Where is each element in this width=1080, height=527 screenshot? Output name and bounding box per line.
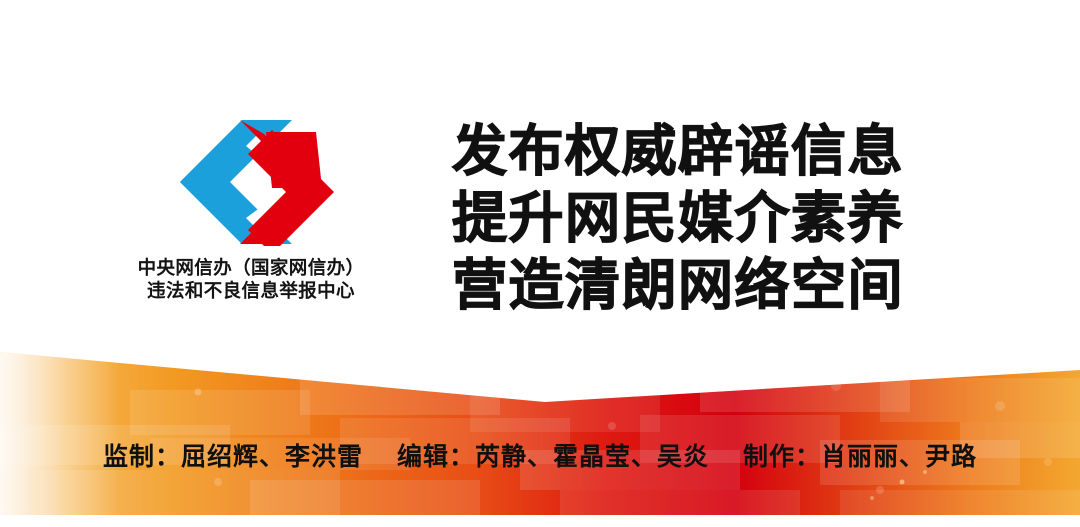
editor-label: 编辑： xyxy=(397,441,475,475)
logo-caption-line-2: 违法和不良信息举报中心 xyxy=(96,279,406,302)
logo-block: 中央网信办（国家网信办） 违法和不良信息举报中心 xyxy=(96,118,406,318)
producer-names: 屈绍辉、李洪雷 xyxy=(181,441,363,475)
designer-label: 制作： xyxy=(743,441,821,475)
poster-canvas: 中央网信办（国家网信办） 违法和不良信息举报中心 发布权威辟谣信息 提升网民媒介… xyxy=(0,0,1080,527)
headline-line-2: 提升网民媒介素养 xyxy=(452,185,952,252)
designer-names: 肖丽丽、尹路 xyxy=(821,441,977,475)
producer-label: 监制： xyxy=(103,441,181,475)
headline-line-1: 发布权威辟谣信息 xyxy=(452,118,952,185)
headline-line-3: 营造清朗网络空间 xyxy=(452,252,952,319)
editor-names: 芮静、霍晶莹、吴炎 xyxy=(475,441,709,475)
upper-white-area: 中央网信办（国家网信办） 违法和不良信息举报中心 发布权威辟谣信息 提升网民媒介… xyxy=(0,0,1080,352)
headline: 发布权威辟谣信息 提升网民媒介素养 营造清朗网络空间 xyxy=(452,118,952,319)
cac-logo-icon xyxy=(96,118,406,246)
logo-caption-line-1: 中央网信办（国家网信办） xyxy=(96,256,406,279)
decorative-band xyxy=(0,330,1080,527)
credits-line: 监制：屈绍辉、李洪雷编辑：芮静、霍晶莹、吴炎制作：肖丽丽、尹路 xyxy=(0,441,1080,475)
logo-caption: 中央网信办（国家网信办） 违法和不良信息举报中心 xyxy=(96,256,406,302)
